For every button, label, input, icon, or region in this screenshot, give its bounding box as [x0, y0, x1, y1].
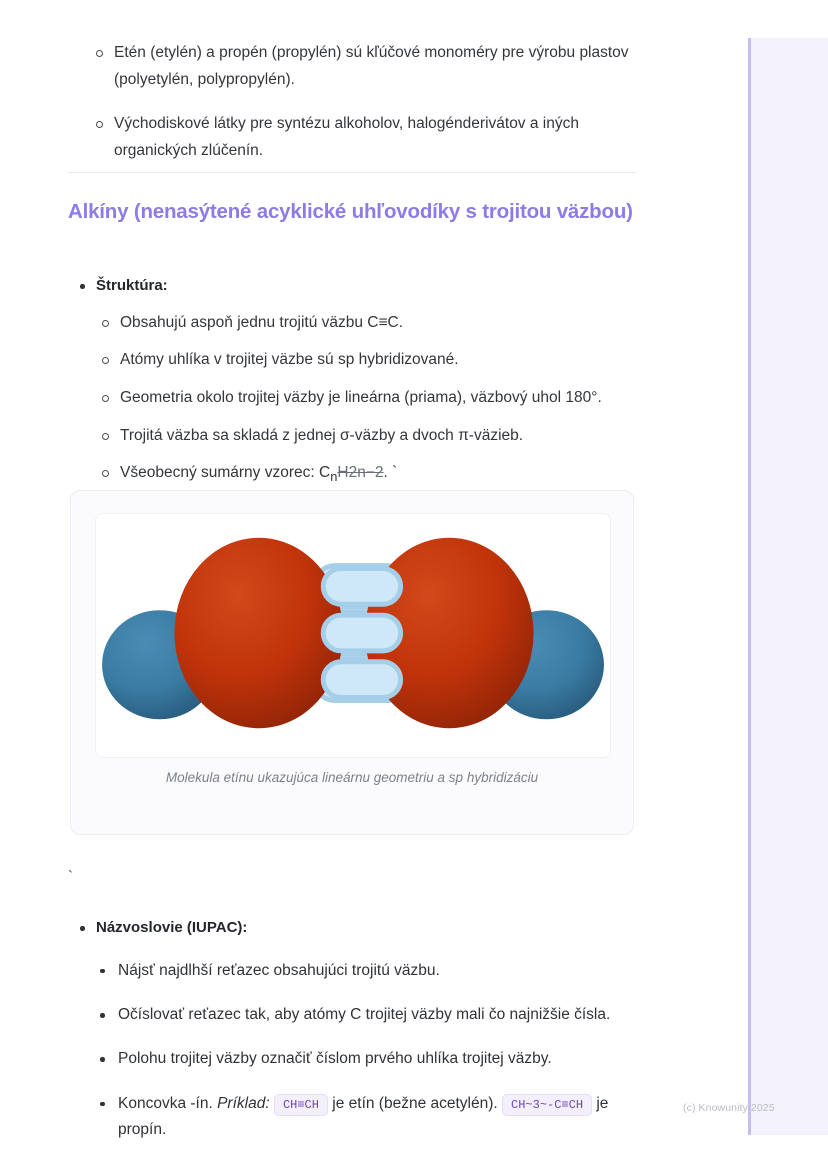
struktura-top-list: Štruktúra: Obsahujú aspoň jednu trojitú …: [74, 273, 654, 489]
list-item-formula: Všeobecný sumárny vzorec: CnH2n−2. `: [96, 460, 654, 488]
etyne-molecule-icon: [96, 514, 610, 757]
struktura-sub-list: Obsahujú aspoň jednu trojitú väzbu C≡C. …: [96, 310, 654, 489]
figure-image-panel: [95, 513, 611, 758]
stray-backtick-text: `: [68, 868, 73, 885]
list-item: Polohu trojitej väzby označiť číslom prv…: [94, 1046, 654, 1072]
carbon-sphere-left: [174, 538, 343, 728]
list-item: Východiskové látky pre syntézu alkoholov…: [90, 111, 646, 164]
list-item: Obsahujú aspoň jednu trojitú väzbu C≡C.: [96, 310, 654, 337]
orbital-lobe-middle-front: [323, 615, 400, 651]
list-item: Geometria okolo trojitej väzby je lineár…: [96, 385, 654, 412]
nazvoslovie-label-item: Názvoslovie (IUPAC):: [74, 915, 654, 942]
figure-card: Molekula etínu ukazujúca lineárnu geomet…: [70, 490, 634, 835]
pi-orbital-lobes-front: [323, 569, 400, 698]
list-item: Atómy uhlíka v trojitej väzbe sú sp hybr…: [96, 347, 654, 374]
struktura-section: Štruktúra: Obsahujú aspoň jednu trojitú …: [74, 273, 654, 500]
orbital-lobe-bottom-front: [323, 662, 400, 698]
nazvoslovie-section: Názvoslovie (IUPAC): Nájsť najdlhší reťa…: [74, 915, 654, 1161]
list-item: Očíslovať reťazec tak, aby atómy C troji…: [94, 1002, 654, 1028]
list-item-example: Koncovka -ín. Príklad: CH≡CH je etín (be…: [94, 1091, 654, 1144]
list-item: Trojitá väzba sa skladá z jednej σ-väzby…: [96, 423, 654, 450]
struktura-label-item: Štruktúra: Obsahujú aspoň jednu trojitú …: [74, 273, 654, 489]
right-sidebar-strip: [748, 38, 828, 1135]
code-chip-propyne[interactable]: CH~3~-C≡CH: [502, 1094, 592, 1116]
example-text-part2: je etín (bežne acetylén).: [328, 1095, 502, 1112]
intro-bullet-list: Etén (etylén) a propén (propylén) sú kľú…: [90, 40, 646, 183]
section-divider: [68, 172, 636, 173]
nazvoslovie-sub-list: Nájsť najdlhší reťazec obsahujúci trojit…: [94, 958, 654, 1144]
copyright-watermark: (c) Knowunity 2025: [683, 1102, 775, 1114]
code-chip-ethyne[interactable]: CH≡CH: [274, 1094, 328, 1116]
list-item: Etén (etylén) a propén (propylén) sú kľú…: [90, 40, 646, 93]
formula-prefix: Všeobecný sumárny vzorec: C: [120, 464, 330, 481]
struktura-label: Štruktúra:: [96, 277, 168, 294]
formula-suffix: . `: [384, 464, 398, 481]
example-italic-label: Príklad:: [217, 1095, 270, 1112]
formula-strikethrough: H2n−2: [337, 464, 383, 481]
nazvoslovie-top-list: Názvoslovie (IUPAC):: [74, 915, 654, 942]
list-item: Nájsť najdlhší reťazec obsahujúci trojit…: [94, 958, 654, 984]
orbital-lobe-top-front: [323, 569, 400, 605]
nazvoslovie-label: Názvoslovie (IUPAC):: [96, 919, 247, 936]
figure-caption: Molekula etínu ukazujúca lineárnu geomet…: [71, 770, 633, 785]
section-heading-alkiny: Alkíny (nenasýtené acyklické uhľovodíky …: [68, 197, 648, 226]
example-text-part1: Koncovka -ín.: [118, 1095, 217, 1112]
